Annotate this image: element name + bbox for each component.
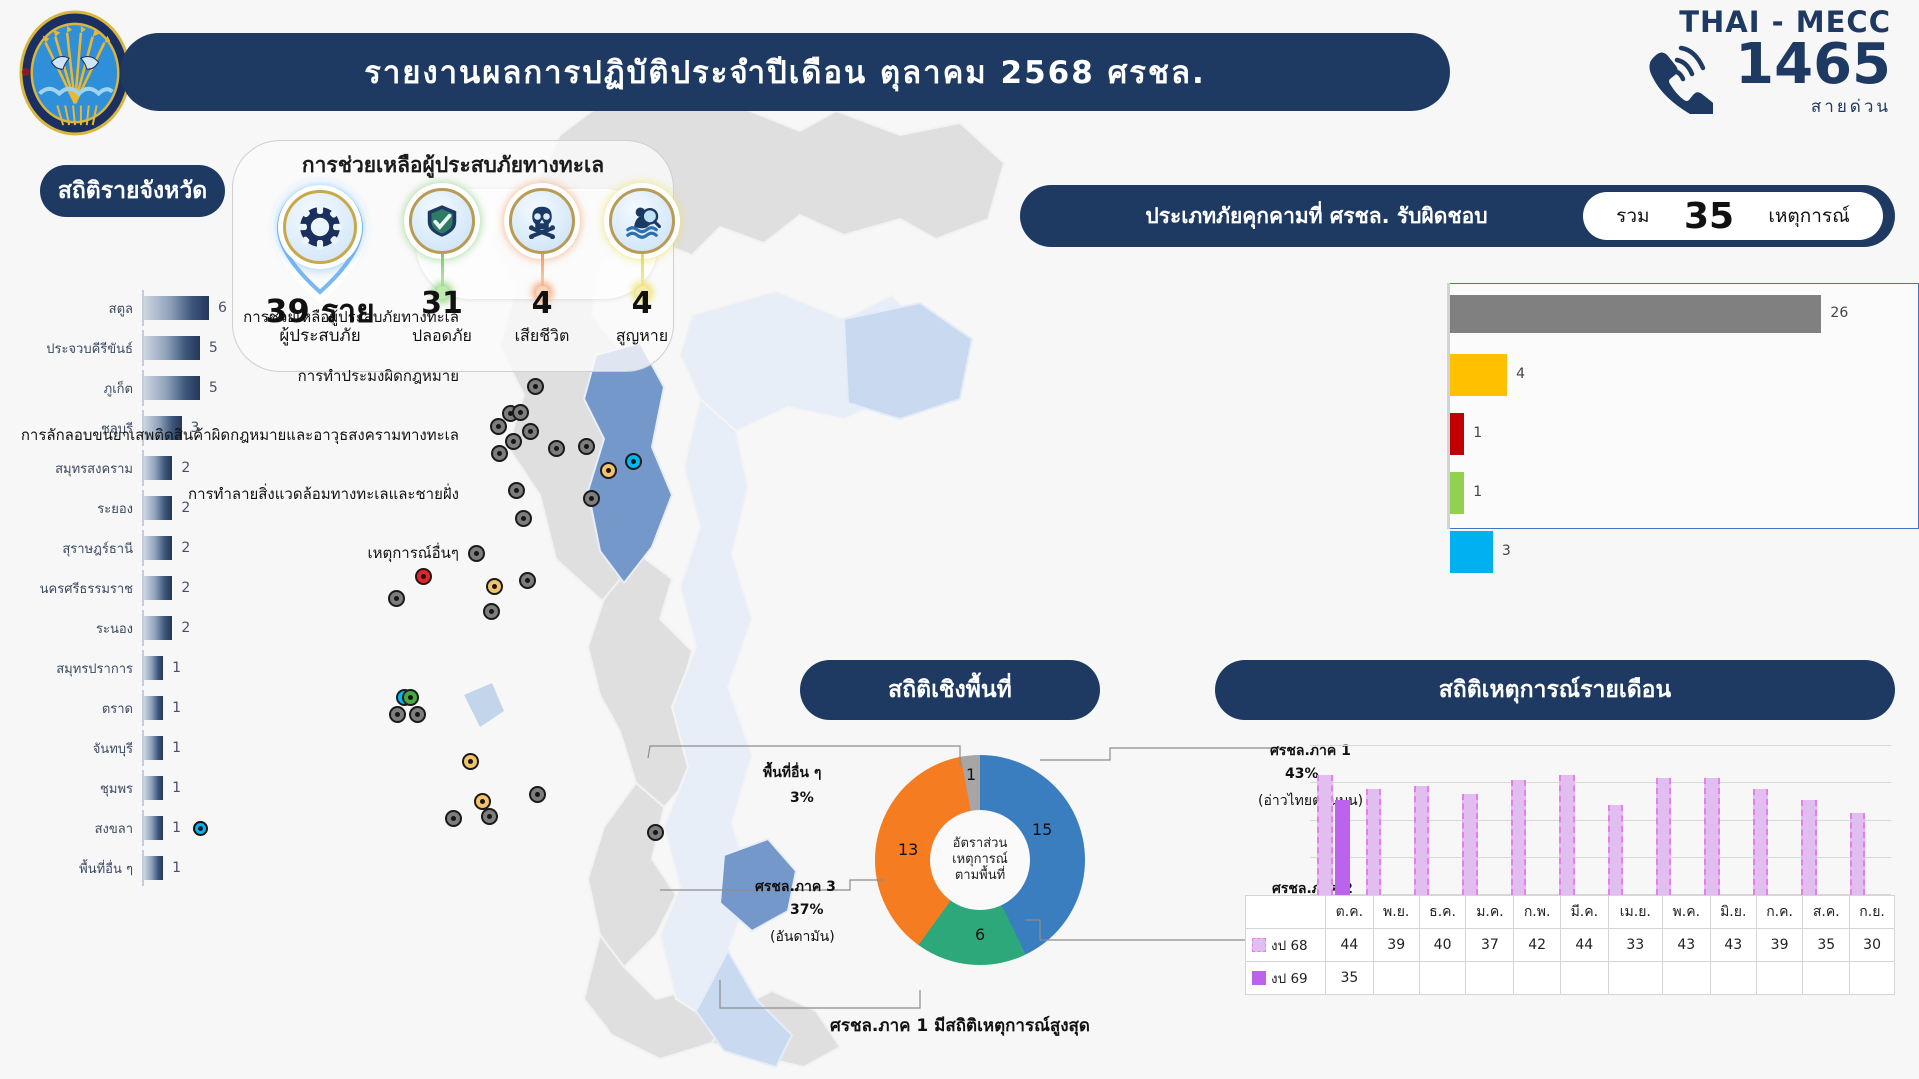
month-bar-fy68 (1850, 813, 1865, 895)
province-row: จันทบุรี1 (20, 728, 250, 768)
hotline-block: THAI - MECC 1465 สายด่วน (1641, 8, 1891, 126)
province-bar (144, 296, 209, 320)
threat-value: 3 (1502, 543, 1511, 559)
month-bar-group (1459, 745, 1500, 895)
series-legend-cell: งป 68 (1246, 929, 1326, 962)
month-value-cell: 39 (1373, 929, 1419, 962)
agency-emblem-logo (16, 8, 134, 138)
map-incident-marker (527, 378, 544, 395)
threat-category-label: การทำลายสิ่งแวดล้อมทางทะเลและชายฝั่ง (188, 482, 459, 506)
month-header-cell: ก.ค. (1756, 896, 1803, 929)
month-header-cell: มิ.ย. (1710, 896, 1756, 929)
province-bar-list: สตูล6ประจวบคีรีขันธ์5ภูเก็ต5ชลบุรี3สมุทร… (20, 288, 250, 888)
table-row: งป 6935 (1246, 962, 1895, 995)
legend-swatch (1252, 971, 1266, 985)
province-name: ชุมพร (20, 778, 142, 799)
missing-stem (641, 254, 644, 288)
province-value: 5 (200, 340, 218, 356)
province-row: สงขลา1 (20, 808, 250, 848)
province-map-marker (193, 821, 208, 836)
legend-swatch (1252, 938, 1266, 952)
page-title: รายงานผลการปฏิบัติประจำปีเดือน ตุลาคม 25… (364, 47, 1206, 97)
map-incident-marker (600, 462, 617, 479)
province-value: 2 (172, 620, 190, 636)
map-incident-marker (486, 578, 503, 595)
threat-value: 26 (1830, 305, 1848, 321)
map-incident-marker (548, 440, 565, 457)
map-incident-marker (515, 510, 532, 527)
report-title-bar: รายงานผลการปฏิบัติประจำปีเดือน ตุลาคม 25… (120, 33, 1450, 111)
province-name: จันทบุรี (20, 738, 142, 759)
threat-value: 4 (1516, 366, 1525, 382)
province-value: 5 (200, 380, 218, 396)
donut-label-region3: ศรชล.ภาค 3 (755, 876, 836, 898)
map-incident-marker (529, 786, 546, 803)
province-row: สตูล6 (20, 288, 250, 328)
province-value: 1 (163, 820, 181, 836)
threat-total-suffix: เหตุการณ์ (1768, 201, 1849, 231)
month-value-cell: 43 (1710, 929, 1756, 962)
month-bar-group (1411, 745, 1452, 895)
threat-category-label: การทำประมงผิดกฎหมาย (298, 364, 459, 388)
map-incident-marker (508, 482, 525, 499)
monthly-data-table: ต.ค.พ.ย.ธ.ค.ม.ค.ก.พ.มี.ค.เม.ย.พ.ค.มิ.ย.ก… (1245, 895, 1895, 995)
month-bar-fy68 (1317, 775, 1332, 895)
map-incident-marker (578, 438, 595, 455)
month-value-cell: 40 (1419, 929, 1466, 962)
province-name: นครศรีธรรมราช (20, 578, 142, 599)
map-incident-marker (415, 568, 432, 585)
month-header-cell: ก.พ. (1514, 896, 1560, 929)
donut-leader-lines (620, 740, 1320, 1040)
month-bar-group (1846, 745, 1887, 895)
month-bar-group (1653, 745, 1694, 895)
map-incident-marker (505, 433, 522, 450)
threat-total-value: 35 (1684, 196, 1734, 237)
province-bar (144, 816, 163, 840)
month-bar-fy68 (1753, 789, 1768, 895)
province-name: ภูเก็ต (20, 378, 142, 399)
month-value-cell: 35 (1326, 962, 1374, 995)
map-incident-marker (402, 689, 419, 706)
month-header-cell: ต.ค. (1326, 896, 1374, 929)
map-incident-marker (625, 453, 642, 470)
month-bar-fy68 (1559, 775, 1574, 895)
province-name: ระนอง (20, 618, 142, 639)
province-value: 1 (163, 740, 181, 756)
missing-count: 4 (592, 286, 692, 321)
dashboard-root: รายงานผลการปฏิบัติประจำปีเดือน ตุลาคม 25… (0, 0, 1919, 1079)
month-value-cell (1373, 962, 1419, 995)
province-name: พื้นที่อื่น ๆ (20, 858, 142, 879)
province-statistics-title: สถิติรายจังหวัด (40, 165, 225, 217)
month-bar-fy68 (1414, 786, 1429, 895)
province-row: ชุมพร1 (20, 768, 250, 808)
safe-stem (441, 254, 444, 288)
threat-bar (1450, 354, 1507, 396)
month-value-cell (1560, 962, 1608, 995)
life-ring-icon (283, 190, 357, 264)
month-value-cell (1710, 962, 1756, 995)
donut-caption: ศรชล.ภาค 1 มีสถิติเหตุการณ์สูงสุด (710, 1012, 1210, 1039)
province-bar (144, 496, 172, 520)
month-value-cell (1850, 962, 1895, 995)
map-incident-marker (389, 706, 406, 723)
map-incident-marker (388, 590, 405, 607)
month-value-cell (1466, 962, 1514, 995)
map-incident-marker (462, 753, 479, 770)
threat-total-chip: รวม 35 เหตุการณ์ (1583, 192, 1883, 240)
province-value: 2 (172, 580, 190, 596)
province-bar (144, 696, 163, 720)
month-bar-group (1798, 745, 1839, 895)
monthly-bar-chart (1245, 745, 1895, 895)
threat-bar (1450, 472, 1464, 514)
series-legend-cell: งป 69 (1246, 962, 1326, 995)
month-value-cell: 39 (1756, 929, 1803, 962)
month-header-cell: ส.ค. (1803, 896, 1850, 929)
month-value-cell (1608, 962, 1662, 995)
table-header-row: ต.ค.พ.ย.ธ.ค.ม.ค.ก.พ.มี.ค.เม.ย.พ.ค.มิ.ย.ก… (1246, 896, 1895, 929)
map-incident-marker (481, 808, 498, 825)
month-header-cell: มี.ค. (1560, 896, 1608, 929)
map-incident-marker (409, 706, 426, 723)
province-value: 1 (163, 860, 181, 876)
month-bar-fy68 (1801, 800, 1816, 895)
dead-label: เสียชีวิต (492, 324, 592, 349)
map-incident-marker (512, 404, 529, 421)
month-header-cell: เม.ย. (1608, 896, 1662, 929)
month-bar-group (1508, 745, 1549, 895)
province-name: ประจวบคีรีขันธ์ (20, 338, 142, 359)
donut-label-other: พื้นที่อื่น ๆ (763, 762, 821, 784)
donut-percent-other: 3% (790, 790, 814, 806)
month-value-cell (1756, 962, 1803, 995)
threat-category-label: การช่วยเหลือผู้ประสบภัยทางทะเล (243, 305, 459, 329)
month-value-cell: 30 (1850, 929, 1895, 962)
dead-stem (541, 254, 544, 288)
month-value-cell: 42 (1514, 929, 1560, 962)
table-corner (1246, 896, 1326, 929)
map-incident-marker (468, 545, 485, 562)
month-bar-fy68 (1462, 794, 1477, 895)
province-value: 1 (163, 700, 181, 716)
map-incident-marker (490, 418, 507, 435)
table-row: งป 68443940374244334343393530 (1246, 929, 1895, 962)
province-row: นครศรีธรรมราช2 (20, 568, 250, 608)
month-value-cell: 43 (1662, 929, 1710, 962)
missing-label: สูญหาย (592, 324, 692, 349)
map-incident-marker (647, 824, 664, 841)
province-row: พื้นที่อื่น ๆ1 (20, 848, 250, 888)
month-header-cell: พ.ย. (1373, 896, 1419, 929)
province-bar (144, 576, 172, 600)
month-value-cell (1419, 962, 1466, 995)
month-bar-group (1362, 745, 1403, 895)
province-bar (144, 456, 172, 480)
phone-ringing-icon (1641, 42, 1713, 114)
threat-types-header: ประเภทภัยคุกคามที่ ศรชล. รับผิดชอบ รวม 3… (1020, 185, 1895, 247)
province-name: สมุทรสงคราม (20, 458, 142, 479)
map-incident-marker (519, 572, 536, 589)
month-bar-fy68 (1366, 789, 1381, 895)
month-bar-fy68 (1511, 780, 1526, 895)
province-bar (144, 856, 163, 880)
map-incident-marker (522, 423, 539, 440)
threat-total-prefix: รวม (1616, 201, 1649, 231)
threat-category-label: เหตุการณ์อื่นๆ (367, 541, 459, 565)
dead-count: 4 (492, 286, 592, 321)
month-bar-group (1556, 745, 1597, 895)
month-header-cell: ม.ค. (1466, 896, 1514, 929)
month-bar-fy69 (1335, 800, 1350, 895)
province-name: ระยอง (20, 498, 142, 519)
month-bar-fy68 (1608, 805, 1623, 895)
month-value-cell: 35 (1803, 929, 1850, 962)
donut-sublabel-region3: (อันดามัน) (770, 926, 835, 948)
month-header-cell: ก.ย. (1850, 896, 1895, 929)
map-incident-marker (583, 490, 600, 507)
month-value-cell (1803, 962, 1850, 995)
month-header-cell: ธ.ค. (1419, 896, 1466, 929)
month-bar-group (1750, 745, 1791, 895)
province-bar (144, 616, 172, 640)
threat-category-label: การลักลอบขนยาเสพติดสินค้าผิดกฎหมายและอาว… (21, 423, 459, 447)
province-name: ตราด (20, 698, 142, 719)
shield-check-icon (409, 188, 475, 254)
threat-bar (1450, 531, 1493, 573)
province-value: 2 (172, 540, 190, 556)
province-bar (144, 736, 163, 760)
province-bar (144, 656, 163, 680)
threat-value: 1 (1473, 425, 1482, 441)
map-incident-marker (483, 603, 500, 620)
donut-percent-region3: 37% (790, 902, 824, 918)
map-incident-marker (445, 810, 462, 827)
month-bar-fy68 (1656, 778, 1671, 895)
month-value-cell (1662, 962, 1710, 995)
province-value: 1 (163, 660, 181, 676)
month-value-cell: 44 (1326, 929, 1374, 962)
map-incident-marker (491, 445, 508, 462)
province-row: ระนอง2 (20, 608, 250, 648)
province-value: 6 (209, 300, 227, 316)
skull-crossbones-icon (509, 188, 575, 254)
province-row: ตราด1 (20, 688, 250, 728)
month-value-cell: 37 (1466, 929, 1514, 962)
province-row: สุราษฎร์ธานี2 (20, 528, 250, 568)
month-header-cell: พ.ค. (1662, 896, 1710, 929)
threat-value: 1 (1473, 484, 1482, 500)
province-name: สุราษฎร์ธานี (20, 538, 142, 559)
month-value-cell (1514, 962, 1560, 995)
province-value: 1 (163, 780, 181, 796)
province-name: สตูล (20, 298, 142, 319)
province-bar (144, 776, 163, 800)
threat-bar (1450, 295, 1821, 333)
area-statistics-title: สถิติเชิงพื้นที่ (800, 660, 1100, 720)
province-bar (144, 336, 200, 360)
month-value-cell: 44 (1560, 929, 1608, 962)
month-bar-fy68 (1704, 778, 1719, 895)
threat-bar (1450, 413, 1464, 455)
province-row: ประจวบคีรีขันธ์5 (20, 328, 250, 368)
month-value-cell: 33 (1608, 929, 1662, 962)
province-row: สมุทรปราการ1 (20, 648, 250, 688)
province-bar (144, 376, 200, 400)
province-name: สมุทรปราการ (20, 658, 142, 679)
province-bar (144, 536, 172, 560)
province-value: 2 (172, 460, 190, 476)
month-bar-group (1701, 745, 1742, 895)
monthly-statistics-title: สถิติเหตุการณ์รายเดือน (1215, 660, 1895, 720)
threat-types-title: ประเภทภัยคุกคามที่ ศรชล. รับผิดชอบ (1020, 200, 1583, 233)
month-bar-group (1314, 745, 1355, 895)
person-in-water-search-icon (609, 188, 675, 254)
province-row: ภูเก็ต5 (20, 368, 250, 408)
province-name: สงขลา (20, 818, 142, 839)
month-bar-group (1604, 745, 1645, 895)
